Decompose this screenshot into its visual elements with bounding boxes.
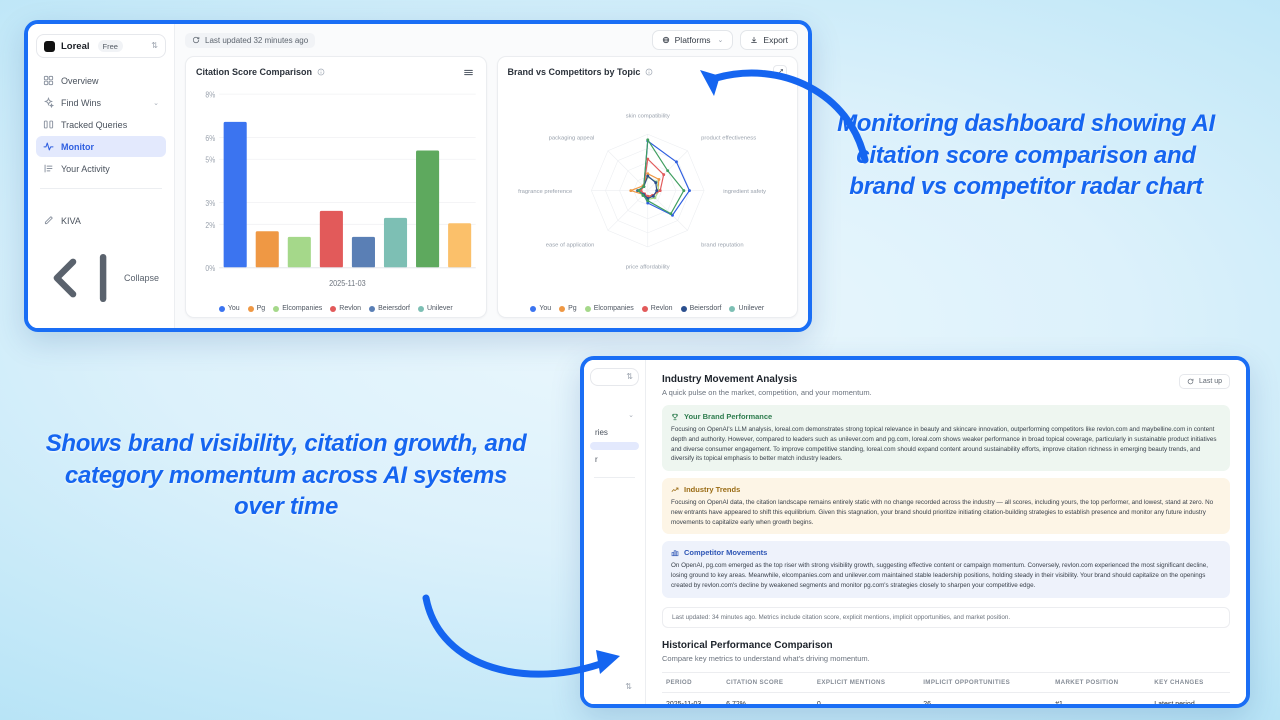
citation-score-bar-chart: 8%6%5%3%2%0%2025-11-03 (186, 83, 486, 302)
legend-dot-icon (418, 306, 424, 312)
svg-text:price affordability: price affordability (625, 265, 669, 271)
panel-title: Your Brand Performance (684, 412, 772, 421)
panel-text: Focusing on OpenAI's LLM analysis, lorea… (671, 425, 1221, 464)
last-updated-badge: Last up (1179, 374, 1230, 389)
metrics-footnote: Last updated: 34 minutes ago. Metrics in… (662, 607, 1230, 628)
info-circle-icon[interactable] (317, 68, 325, 76)
table-head: PERIODCITATION SCOREEXPLICIT MENTIONSIMP… (662, 672, 1230, 692)
table-column-header: EXPLICIT MENTIONS (813, 672, 919, 692)
window2-sidebar: ⇅ ⌄ ries r ⇅ (584, 360, 646, 704)
legend-item[interactable]: Unilever (418, 305, 453, 312)
sidebar-item-kiva[interactable]: KIVA (36, 210, 166, 231)
sidebar-item-label: KIVA (61, 216, 81, 226)
legend-dot-icon (219, 306, 225, 312)
legend-label: Revlon (339, 305, 361, 312)
legend-dot-icon (681, 306, 687, 312)
org-switcher[interactable]: Loreal Free ⇅ (36, 34, 166, 58)
sidebar-collapse-button[interactable]: Collapse (36, 236, 166, 320)
sparkle-icon (43, 97, 54, 108)
window2-body: ⇅ ⌄ ries r ⇅ (584, 360, 1246, 704)
globe-icon (662, 36, 670, 44)
sidebar-collapse-button[interactable]: ⇅ (590, 678, 639, 696)
refresh-icon (192, 36, 200, 44)
industry-trends-panel: Industry Trends Focusing on OpenAI data,… (662, 478, 1230, 534)
table-cell: 26 (919, 692, 1051, 708)
legend-label: Revlon (651, 305, 673, 312)
table-column-header: MARKET POSITION (1051, 672, 1150, 692)
svg-text:ingredient safety: ingredient safety (723, 189, 766, 195)
sidebar-item-label: Tracked Queries (61, 120, 127, 130)
list-icon (43, 163, 54, 174)
table-column-header: PERIOD (662, 672, 722, 692)
legend-label: Beiersdorf (690, 305, 722, 312)
radar-chart-legend: YouPgElcompaniesRevlonBeiersdorfUnilever (498, 302, 798, 317)
panel-text: Focusing on OpenAI data, the citation la… (671, 498, 1221, 527)
table-header-row: PERIODCITATION SCOREEXPLICIT MENTIONSIMP… (662, 672, 1230, 692)
panel-title: Competitor Movements (684, 548, 767, 557)
sidebar-item-tracked-queries[interactable]: Tracked Queries (36, 114, 166, 135)
last-updated-badge: Last updated 32 minutes ago (185, 33, 315, 48)
toolbar-actions: Platforms ⌄ Export (652, 30, 798, 50)
table-column-header: KEY CHANGES (1150, 672, 1230, 692)
sidebar-item-overview[interactable]: Overview (36, 70, 166, 91)
industry-analysis-titles: Industry Movement Analysis A quick pulse… (662, 374, 872, 397)
historical-performance-section: Historical Performance Comparison Compar… (646, 628, 1246, 709)
citation-score-card: Citation Score Comparison 8%6%5%3%2%0%20… (185, 56, 487, 318)
chevron-down-icon: ⌄ (718, 36, 724, 44)
org-plan-badge: Free (98, 40, 123, 52)
trend-up-icon (671, 486, 679, 494)
chevron-up-down-icon: ⇅ (626, 373, 633, 381)
window2-sidebar-nav: ⌄ ries r (590, 398, 639, 468)
legend-item[interactable]: Pg (248, 305, 266, 312)
sidebar-item-label: ries (595, 428, 608, 437)
collapse-left-icon (43, 241, 117, 315)
grid-icon (43, 75, 54, 86)
brand-performance-panel: Your Brand Performance Focusing on OpenA… (662, 405, 1230, 471)
legend-label: Beiersdorf (378, 305, 410, 312)
sidebar-item-overview[interactable] (590, 398, 639, 406)
table-cell: 2025-11-03 (662, 692, 722, 708)
svg-text:8%: 8% (205, 90, 215, 100)
sidebar-nav: Overview Find Wins ⌄ Tracked Queries Mon… (36, 70, 166, 179)
legend-dot-icon (369, 306, 375, 312)
sidebar-item-monitor[interactable] (590, 442, 639, 450)
section-title: Historical Performance Comparison (662, 640, 1230, 651)
panel-header: Competitor Movements (671, 548, 1221, 557)
industry-movement-window: ⇅ ⌄ ries r ⇅ (580, 356, 1250, 708)
svg-text:2025-11-03: 2025-11-03 (329, 278, 366, 288)
sidebar-collapse-label: Collapse (124, 273, 159, 283)
legend-dot-icon (642, 306, 648, 312)
svg-text:packaging appeal: packaging appeal (548, 136, 594, 142)
sidebar-item-your-activity[interactable]: r (590, 451, 639, 468)
activity-icon (43, 141, 54, 152)
citation-score-card-header: Citation Score Comparison (186, 57, 486, 83)
table-column-header: IMPLICIT OPPORTUNITIES (919, 672, 1051, 692)
legend-label: Elcompanies (594, 305, 634, 312)
svg-text:ease of application: ease of application (545, 242, 594, 248)
monitoring-dashboard-window: Loreal Free ⇅ Overview Find Wins ⌄ Track… (24, 20, 812, 332)
svg-text:2%: 2% (205, 220, 215, 230)
org-logo-icon (44, 41, 55, 52)
legend-label: Unilever (427, 305, 453, 312)
expand-diagonal-icon[interactable] (773, 65, 787, 79)
svg-text:fragrance preference: fragrance preference (518, 189, 572, 195)
svg-text:skin compatibility: skin compatibility (625, 113, 669, 119)
brand-vs-competitors-card-header: Brand vs Competitors by Topic (498, 57, 798, 83)
window1-body: Loreal Free ⇅ Overview Find Wins ⌄ Track… (28, 24, 808, 328)
dashboard-cards: Citation Score Comparison 8%6%5%3%2%0%20… (175, 56, 808, 328)
brand-vs-competitors-radar-chart: skin compatibilityproduct effectivenessi… (498, 83, 798, 302)
page-title: Industry Movement Analysis (662, 374, 872, 385)
sidebar-item-find-wins[interactable]: ⌄ (590, 407, 639, 423)
card-title: Citation Score Comparison (196, 67, 312, 77)
legend-item[interactable]: Elcompanies (273, 305, 322, 312)
refresh-icon (1187, 378, 1194, 385)
sidebar-divider (594, 477, 635, 478)
legend-label: Elcompanies (282, 305, 322, 312)
info-circle-icon[interactable] (645, 68, 653, 76)
sidebar-secondary-nav: KIVA (36, 210, 166, 231)
table-cell: 6.72% (722, 692, 813, 708)
sidebar-item-label: Your Activity (61, 164, 110, 174)
legend-item[interactable]: You (219, 305, 240, 312)
platforms-dropdown[interactable]: Platforms ⌄ (652, 30, 734, 50)
table-row[interactable]: 2025-11-036.72%026#1Latest period (662, 692, 1230, 708)
platforms-label: Platforms (675, 35, 711, 45)
export-button[interactable]: Export (740, 30, 798, 50)
legend-item[interactable]: You (530, 305, 551, 312)
brand-vs-competitors-card: Brand vs Competitors by Topic skin compa… (497, 56, 799, 318)
legend-dot-icon (530, 306, 536, 312)
section-subtitle: Compare key metrics to understand what's… (662, 654, 1230, 663)
org-name: Loreal (61, 41, 90, 52)
panel-title: Industry Trends (684, 485, 740, 494)
panel-header: Your Brand Performance (671, 412, 1221, 421)
legend-dot-icon (729, 306, 735, 312)
table-cell: Latest period (1150, 692, 1230, 708)
columns-icon (43, 119, 54, 130)
menu-bars-icon[interactable] (462, 65, 476, 79)
svg-text:0%: 0% (205, 264, 215, 274)
legend-item[interactable]: Pg (559, 305, 577, 312)
svg-text:product effectiveness: product effectiveness (701, 136, 756, 142)
last-updated-text: Last up (1199, 378, 1222, 385)
radar-chart-svg: skin compatibilityproduct effectivenessi… (502, 85, 794, 302)
competitor-movements-panel: Competitor Movements On OpenAI, pg.com e… (662, 541, 1230, 597)
historical-performance-table: PERIODCITATION SCOREEXPLICIT MENTIONSIMP… (662, 672, 1230, 709)
chevron-down-icon: ⌄ (153, 99, 159, 107)
sidebar-item-label: r (595, 455, 598, 464)
bar-chart-svg: 8%6%5%3%2%0%2025-11-03 (190, 85, 482, 302)
sidebar: Loreal Free ⇅ Overview Find Wins ⌄ Track… (28, 24, 175, 328)
competitors-icon (671, 549, 679, 557)
table-body: 2025-11-036.72%026#1Latest period (662, 692, 1230, 708)
legend-dot-icon (559, 306, 565, 312)
window1-main: Last updated 32 minutes ago Platforms ⌄ … (175, 24, 808, 328)
sidebar-item-tracked-queries[interactable]: ries (590, 424, 639, 441)
table-cell: 0 (813, 692, 919, 708)
chevron-down-icon: ⌄ (628, 411, 634, 419)
page-subtitle: A quick pulse on the market, competition… (662, 388, 872, 397)
download-icon (750, 36, 758, 44)
legend-item[interactable]: Beiersdorf (369, 305, 410, 312)
svg-text:3%: 3% (205, 199, 215, 209)
legend-label: Unilever (738, 305, 764, 312)
dashboard-toolbar: Last updated 32 minutes ago Platforms ⌄ … (175, 24, 808, 56)
industry-analysis-header: Industry Movement Analysis A quick pulse… (646, 360, 1246, 405)
legend-item[interactable]: Revlon (330, 305, 361, 312)
legend-dot-icon (248, 306, 254, 312)
last-updated-text: Last updated 32 minutes ago (205, 36, 308, 45)
pen-icon (43, 215, 54, 226)
sidebar-item-label: Monitor (61, 142, 94, 152)
sidebar-divider (40, 188, 162, 189)
export-label: Export (763, 35, 788, 45)
legend-dot-icon (330, 306, 336, 312)
svg-text:5%: 5% (205, 155, 215, 165)
trophy-icon (671, 413, 679, 421)
card-title: Brand vs Competitors by Topic (508, 67, 641, 77)
chevron-up-down-icon: ⇅ (625, 683, 632, 691)
svg-text:brand reputation: brand reputation (701, 242, 743, 248)
legend-item[interactable]: Elcompanies (585, 305, 634, 312)
annotation-bottom-left: Shows brand visibility, citation growth,… (38, 428, 534, 523)
legend-dot-icon (585, 306, 591, 312)
legend-label: You (539, 305, 551, 312)
svg-text:6%: 6% (205, 133, 215, 143)
legend-item[interactable]: Unilever (729, 305, 764, 312)
table-column-header: CITATION SCORE (722, 672, 813, 692)
org-switcher[interactable]: ⇅ (590, 368, 639, 386)
sidebar-item-label: Find Wins (61, 98, 101, 108)
legend-label: You (228, 305, 240, 312)
table-cell: #1 (1051, 692, 1150, 708)
annotation-top-right: Monitoring dashboard showing AI citation… (824, 108, 1228, 203)
sidebar-item-label: Overview (61, 76, 99, 86)
window2-main: Industry Movement Analysis A quick pulse… (646, 360, 1246, 704)
chevron-up-down-icon: ⇅ (151, 42, 158, 50)
sidebar-item-monitor[interactable]: Monitor (36, 136, 166, 157)
legend-item[interactable]: Beiersdorf (681, 305, 722, 312)
sidebar-item-your-activity[interactable]: Your Activity (36, 158, 166, 179)
legend-item[interactable]: Revlon (642, 305, 673, 312)
panel-text: On OpenAI, pg.com emerged as the top ris… (671, 561, 1221, 590)
legend-label: Pg (257, 305, 266, 312)
sidebar-item-find-wins[interactable]: Find Wins ⌄ (36, 92, 166, 113)
legend-label: Pg (568, 305, 577, 312)
bar-chart-legend: YouPgElcompaniesRevlonBeiersdorfUnilever (186, 302, 486, 317)
panel-header: Industry Trends (671, 485, 1221, 494)
legend-dot-icon (273, 306, 279, 312)
